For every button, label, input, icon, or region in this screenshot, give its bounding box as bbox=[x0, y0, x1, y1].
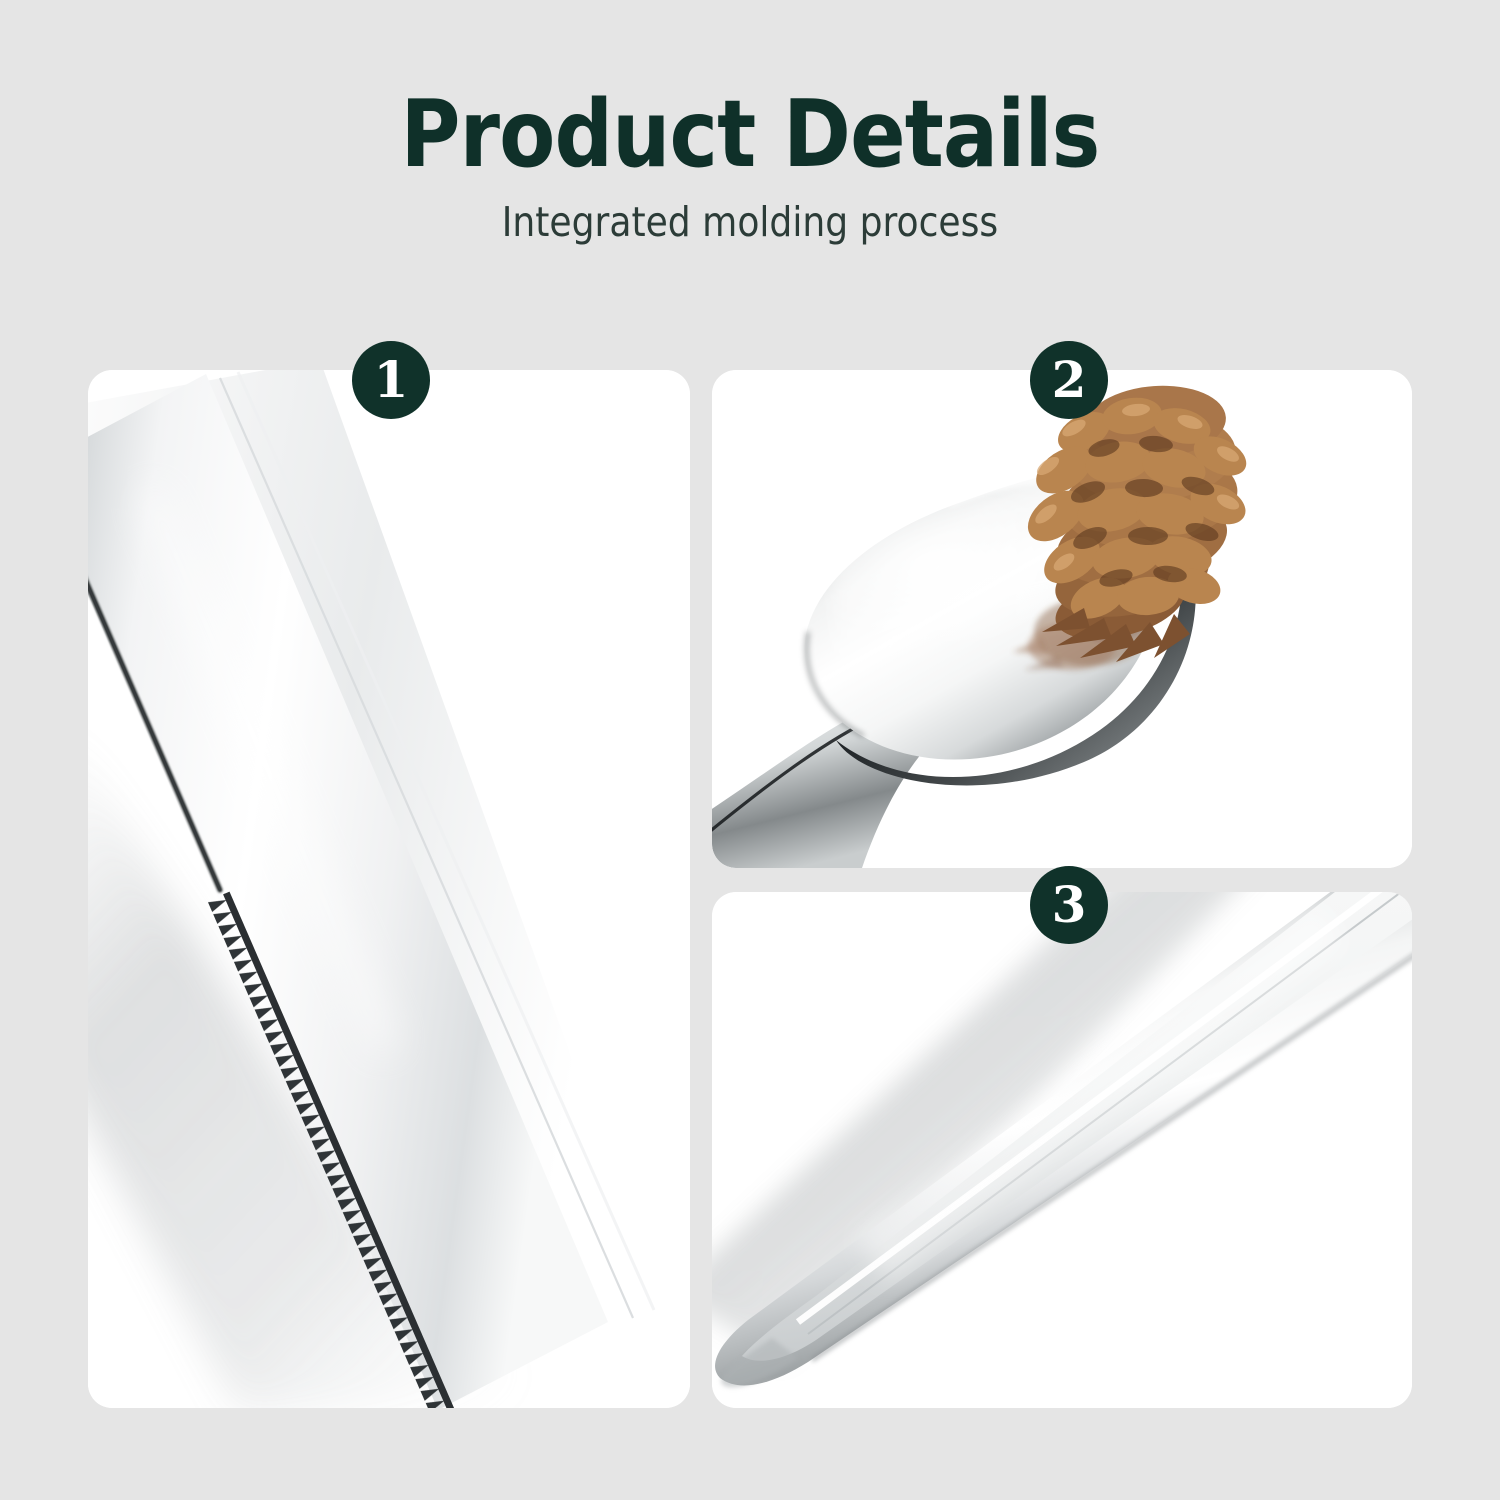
polished-cutlery-handle-image bbox=[712, 892, 1412, 1408]
detail-card-sharp-blade-teeth[interactable]: Sharp blade teeth Sharp blade teeth easi… bbox=[88, 370, 690, 1408]
detail-card-mirror-polishing[interactable]: Mirror polishing Surface mirror polishin… bbox=[712, 370, 1412, 868]
step-badge-1: 1 bbox=[352, 341, 430, 419]
detail-card-ergonomic-handle[interactable]: Ergonomic handle Elegant curves and comf… bbox=[712, 892, 1412, 1408]
page-header: Product Details Integrated molding proce… bbox=[0, 0, 1500, 246]
page-title: Product Details bbox=[90, 0, 1410, 184]
serrated-knife-blade-image bbox=[88, 370, 690, 1408]
product-details-page: Product Details Integrated molding proce… bbox=[0, 0, 1500, 1500]
step-badge-3: 3 bbox=[1030, 866, 1108, 944]
step-badge-2: 2 bbox=[1030, 341, 1108, 419]
page-subtitle: Integrated molding process bbox=[90, 184, 1410, 246]
polished-spoon-with-pine-cone-image bbox=[712, 370, 1412, 868]
